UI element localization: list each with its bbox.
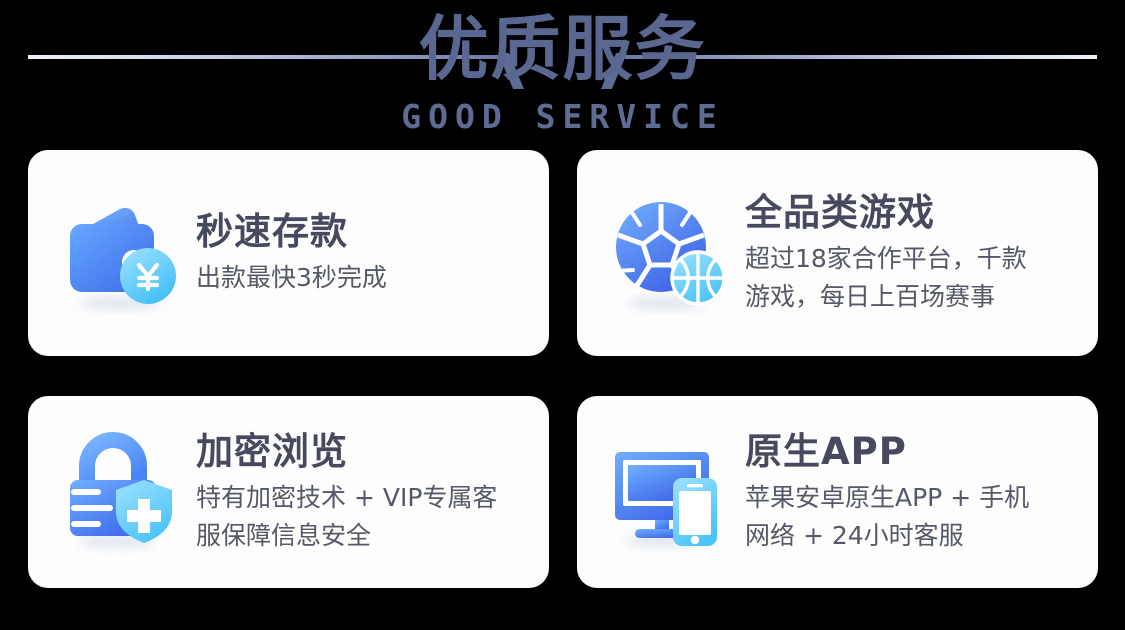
- card-title: 原生APP: [745, 429, 1072, 475]
- desc-line: 游戏，每日上百场赛事: [745, 278, 1072, 316]
- desc-line: 网络 + 24小时客服: [745, 517, 1072, 555]
- card-title: 全品类游戏: [745, 190, 1072, 236]
- desc-line: 苹果安卓原生APP + 手机: [745, 479, 1072, 517]
- card-description: 苹果安卓原生APP + 手机 网络 + 24小时客服: [745, 479, 1072, 555]
- card-description: 特有加密技术 + VIP专属客 服保障信息安全: [196, 479, 523, 555]
- card-text-block: 加密浏览 特有加密技术 + VIP专属客 服保障信息安全: [196, 429, 523, 555]
- card-text-block: 原生APP 苹果安卓原生APP + 手机 网络 + 24小时客服: [745, 429, 1072, 555]
- card-title: 秒速存款: [196, 209, 523, 255]
- soccer-basketball-icon: [607, 191, 731, 315]
- card-text-block: 秒速存款 出款最快3秒完成: [196, 209, 523, 297]
- card-description: 超过18家合作平台，千款 游戏，每日上百场赛事: [745, 240, 1072, 316]
- page-title: 优质服务: [0, 8, 1125, 90]
- feature-card-deposit[interactable]: 秒速存款 出款最快3秒完成: [28, 150, 549, 356]
- feature-card-grid: 秒速存款 出款最快3秒完成: [28, 150, 1098, 610]
- desc-line: 超过18家合作平台，千款: [745, 240, 1072, 278]
- feature-card-native-app[interactable]: 原生APP 苹果安卓原生APP + 手机 网络 + 24小时客服: [577, 396, 1098, 588]
- page-subtitle: GOOD SERVICE: [0, 98, 1125, 136]
- feature-card-encryption[interactable]: 加密浏览 特有加密技术 + VIP专属客 服保障信息安全: [28, 396, 549, 588]
- monitor-phone-icon: [607, 430, 731, 554]
- page-header: 优质服务 GOOD SERVICE: [0, 0, 1125, 145]
- feature-card-games[interactable]: 全品类游戏 超过18家合作平台，千款 游戏，每日上百场赛事: [577, 150, 1098, 356]
- desc-line: 出款最快3秒完成: [196, 259, 523, 297]
- desc-line: 服保障信息安全: [196, 517, 523, 555]
- card-description: 出款最快3秒完成: [196, 259, 523, 297]
- wallet-icon: [58, 191, 182, 315]
- desc-line: 特有加密技术 + VIP专属客: [196, 479, 523, 517]
- card-title: 加密浏览: [196, 429, 523, 475]
- card-text-block: 全品类游戏 超过18家合作平台，千款 游戏，每日上百场赛事: [745, 190, 1072, 316]
- lock-shield-icon: [58, 430, 182, 554]
